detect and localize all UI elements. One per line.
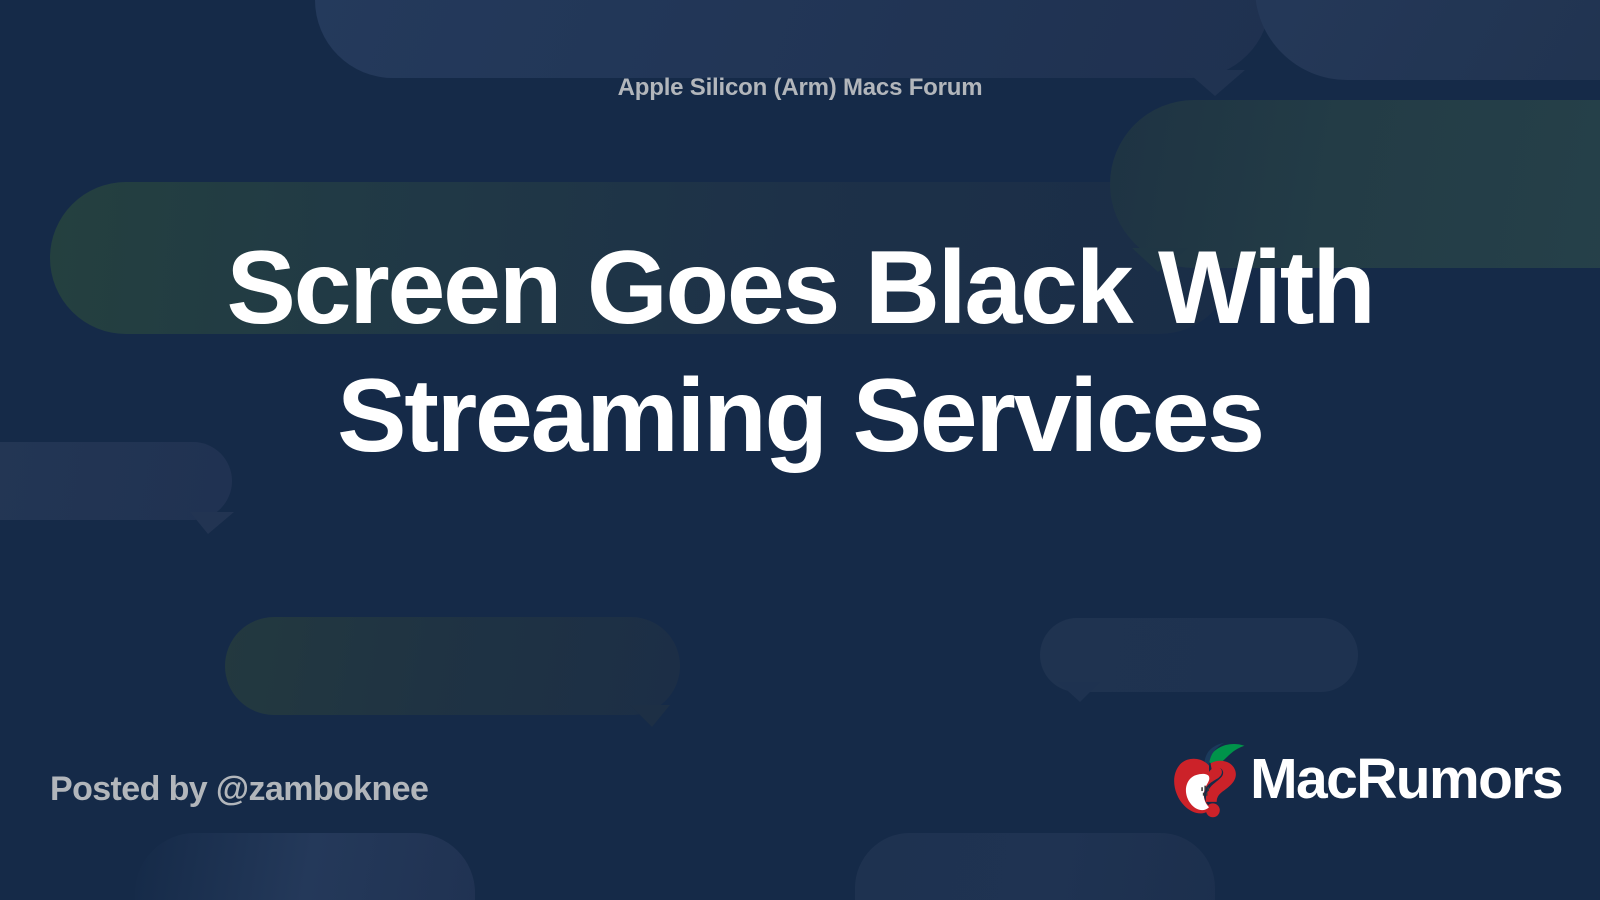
- macrumors-logo: MacRumors: [1170, 738, 1562, 818]
- page-title: Screen Goes Black With Streaming Service…: [120, 224, 1480, 480]
- share-card: Apple Silicon (Arm) Macs Forum Screen Go…: [0, 0, 1600, 900]
- card-content: Apple Silicon (Arm) Macs Forum Screen Go…: [0, 0, 1600, 900]
- forum-name: Apple Silicon (Arm) Macs Forum: [0, 74, 1600, 102]
- macrumors-wordmark: MacRumors: [1250, 751, 1562, 808]
- posted-by-byline: Posted by @zamboknee: [50, 770, 428, 809]
- macrumors-apple-icon: [1170, 738, 1248, 818]
